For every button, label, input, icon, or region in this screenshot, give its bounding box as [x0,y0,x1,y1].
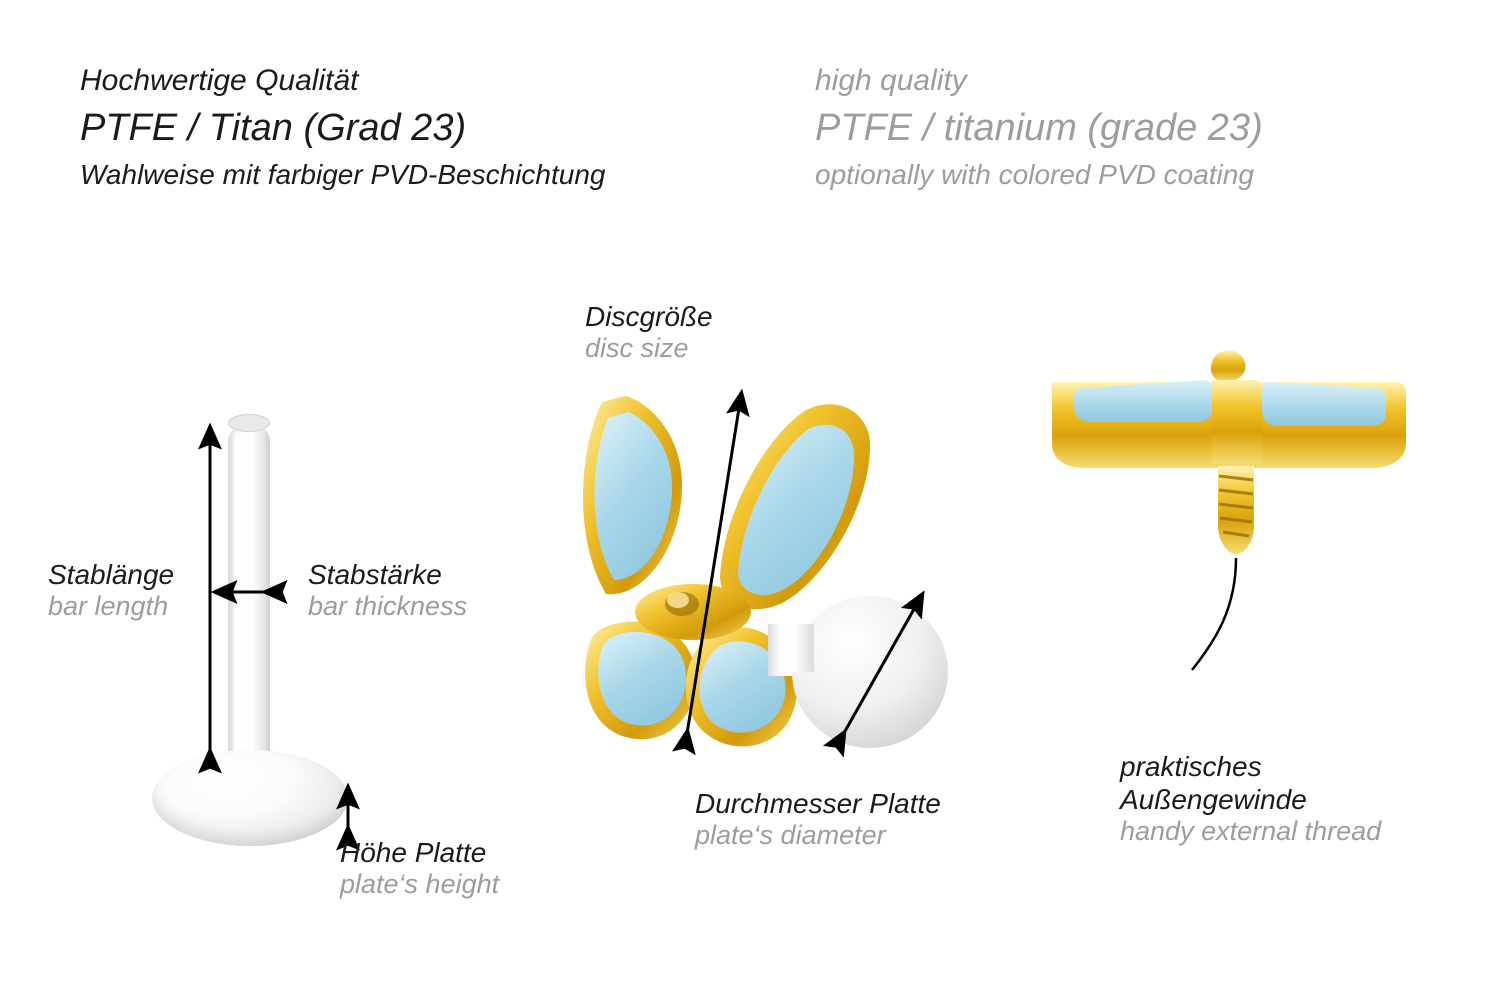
header-english: high quality PTFE / titanium (grade 23) … [815,60,1455,196]
label-bar-thickness: Stabstärke bar thickness [308,558,467,623]
external-thread-illustration [1040,340,1400,590]
label-bar-length-de: Stablänge [48,558,174,591]
label-bar-length-en: bar length [48,591,174,623]
header-de-line3: Wahlweise mit farbiger PVD-Beschichtung [80,154,800,196]
thread-leader-line [1192,558,1236,670]
label-external-thread-de-line1: praktisches [1120,750,1381,783]
ptfe-labret-illustration [140,400,470,870]
butterfly-graphic [560,380,1030,800]
label-bar-length: Stablänge bar length [48,558,174,623]
crown-knob [1211,350,1246,382]
label-plate-height: Höhe Platte plate‘s height [340,836,499,901]
label-plate-diameter: Durchmesser Platte plate‘s diameter [695,787,941,852]
butterfly-attachment-illustration [560,380,1030,800]
label-disc-size-de: Discgröße [585,300,713,333]
label-external-thread: praktisches Außengewinde handy external … [1120,750,1381,848]
header-german: Hochwertige Qualität PTFE / Titan (Grad … [80,60,800,196]
label-plate-diameter-en: plate‘s diameter [695,820,941,852]
header-de-line1: Hochwertige Qualität [80,60,800,102]
label-disc-size-en: disc size [585,333,713,365]
label-bar-thickness-de: Stabstärke [308,558,467,591]
external-thread [1218,466,1254,554]
label-plate-diameter-de: Durchmesser Platte [695,787,941,820]
header-en-line3: optionally with colored PVD coating [815,154,1455,196]
gem-right [1262,382,1386,426]
label-bar-thickness-en: bar thickness [308,591,467,623]
label-external-thread-en: handy external thread [1120,816,1381,848]
wing-upper-left [583,396,682,594]
label-plate-height-en: plate‘s height [340,869,499,901]
wing-upper-right [720,404,870,609]
ptfe-bar-with-plate [768,596,948,748]
header-en-line2: PTFE / titanium (grade 23) [815,102,1455,154]
left-measure-arrows [140,400,480,880]
header-de-line2: PTFE / Titan (Grad 23) [80,102,800,154]
label-plate-height-de: Höhe Platte [340,836,499,869]
disc-side-view-graphic [1040,340,1440,760]
label-disc-size: Discgröße disc size [585,300,713,365]
label-external-thread-de-line2: Außengewinde [1120,783,1381,816]
butterfly-body [635,584,751,640]
header-en-line1: high quality [815,60,1455,102]
center-boss [1212,380,1263,464]
